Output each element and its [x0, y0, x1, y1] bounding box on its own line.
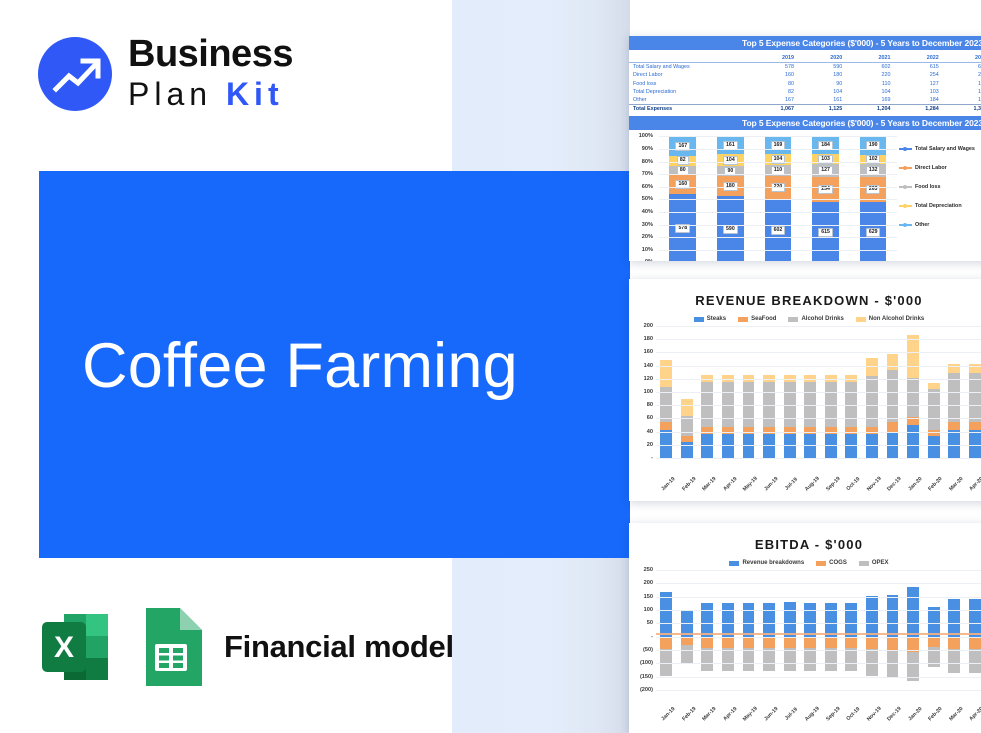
- x-axis-label: Sep-19: [824, 705, 843, 724]
- bar-segment: [866, 358, 878, 376]
- table-header-cell: 2022: [893, 54, 941, 63]
- table-cell-value: 263: [941, 71, 981, 79]
- legend-label: OPEX: [872, 560, 889, 566]
- legend-item: Revenue breakdowns: [729, 560, 804, 566]
- y-axis-tick: 20%: [642, 234, 653, 240]
- x-axis-label: Feb-19: [680, 705, 699, 724]
- chart-column: [944, 570, 965, 690]
- bar-segment: 102: [860, 155, 887, 165]
- y-axis-tick: 200: [644, 323, 653, 329]
- bar-segment: 578: [669, 194, 696, 261]
- legend-swatch-icon: [729, 561, 739, 566]
- brand-word-plan: Plan: [128, 76, 212, 112]
- bar-segment: [948, 422, 960, 430]
- bar-segment: [743, 603, 755, 637]
- table-cell-label: Other: [629, 96, 748, 105]
- microsoft-excel-icon: X: [38, 610, 112, 684]
- bar-segment: [743, 648, 755, 671]
- bar-value-label: 590: [723, 225, 738, 234]
- table-cell-value: 110: [844, 80, 892, 88]
- legend-item: Other: [899, 222, 981, 228]
- gridline: [659, 237, 897, 238]
- table-cell-value: 184: [893, 96, 941, 105]
- revenue-chart-y-axis: 20018016014012010080604020-: [629, 324, 655, 492]
- table-cell-label: Direct Labor: [629, 71, 748, 79]
- bar-segment: 160: [669, 175, 696, 194]
- x-axis-label: Aug-19: [803, 475, 822, 494]
- legend-swatch-icon: [899, 186, 912, 188]
- x-axis-label: May-19: [741, 475, 760, 494]
- expense-categories-card[interactable]: Top 5 Expense Categories ($'000) - 5 Yea…: [629, 36, 981, 261]
- table-row: Direct Labor160180220254263: [629, 71, 981, 79]
- brand-line-plan-kit: Plan Kit: [128, 75, 293, 113]
- table-header-cell: 2020: [796, 54, 844, 63]
- ebitda-chart-y-axis: 25020015010050-(50)(100)(150)(200): [629, 568, 655, 720]
- bar-segment: [722, 434, 734, 458]
- chart-column: [677, 570, 698, 690]
- bar-group[interactable]: [964, 570, 981, 690]
- bar-group[interactable]: [944, 570, 965, 690]
- legend-swatch-icon: [899, 224, 912, 226]
- gridline: [659, 136, 897, 137]
- gridline: [659, 162, 897, 163]
- stacked-bar[interactable]: [866, 358, 878, 458]
- bar-segment: [969, 637, 981, 649]
- bar-segment: [743, 637, 755, 648]
- y-axis-tick: (200): [640, 687, 653, 693]
- x-axis-label: Jan-19: [659, 705, 678, 724]
- bar-segment: [825, 648, 837, 671]
- x-axis-label: Dec-19: [885, 475, 904, 494]
- bar-group[interactable]: [841, 570, 862, 690]
- bar-segment: [907, 378, 919, 417]
- table-cell-value: 1,067: [748, 105, 796, 114]
- expense-table: 20192020202120222023Total Salary and Wag…: [629, 54, 981, 113]
- table-row: Other167161169184190: [629, 96, 981, 105]
- bar-segment: [969, 649, 981, 674]
- bar-segment: [969, 599, 981, 637]
- bar-segment: [784, 637, 796, 648]
- y-axis-tick: 20: [647, 442, 653, 448]
- chart-column: [697, 570, 718, 690]
- x-axis-label: Feb-20: [926, 475, 945, 494]
- bar-group[interactable]: [779, 570, 800, 690]
- bar-segment: [804, 427, 816, 434]
- chart-column: [882, 570, 903, 690]
- bar-segment: [825, 427, 837, 434]
- gridline: [656, 677, 981, 678]
- x-axis-label: Jan-20: [906, 705, 925, 724]
- bar-segment: 615: [812, 202, 839, 261]
- bar-group[interactable]: [821, 570, 842, 690]
- bar-segment: [784, 427, 796, 434]
- bar-segment: 169: [765, 136, 792, 154]
- bar-segment: [701, 637, 713, 648]
- ebitda-trend-line: [656, 633, 981, 635]
- bar-segment: [701, 648, 713, 671]
- revenue-chart-plot-area[interactable]: 20018016014012010080604020- Jan-19Feb-19…: [629, 324, 981, 492]
- bar-segment: [804, 434, 816, 458]
- bar-segment: [907, 425, 919, 458]
- gridline: [656, 650, 981, 651]
- stacked-bar[interactable]: [928, 383, 940, 458]
- gridline: [656, 405, 981, 406]
- table-cell-value: 602: [844, 63, 892, 72]
- legend-label: Revenue breakdowns: [742, 560, 804, 566]
- table-header-row: 20192020202120222023: [629, 54, 981, 63]
- expense-stacked-chart[interactable]: 100%90%80%70%60%50%40%30%20%10%0% 167828…: [629, 132, 981, 261]
- bar-segment: [866, 596, 878, 637]
- table-cell-value: 578: [748, 63, 796, 72]
- bar-group[interactable]: [677, 570, 698, 690]
- x-axis-label: Mar-19: [700, 705, 719, 724]
- legend-label: Other: [915, 222, 929, 228]
- legend-label: Direct Labor: [915, 165, 947, 171]
- format-badges: X Financial model: [38, 607, 454, 687]
- y-axis-tick: 60: [647, 415, 653, 421]
- y-axis-tick: 100: [644, 389, 653, 395]
- table-header-cell: [629, 54, 748, 63]
- legend-label: Food loss: [915, 184, 940, 190]
- expense-chart-y-axis: 100%90%80%70%60%50%40%30%20%10%0%: [629, 132, 655, 261]
- y-axis-tick: 40: [647, 429, 653, 435]
- bar-segment: [907, 335, 919, 378]
- x-axis-label: May-19: [741, 705, 760, 724]
- y-axis-tick: (50): [643, 647, 653, 653]
- gridline: [659, 250, 897, 251]
- bar-segment: [660, 637, 672, 650]
- x-axis-label: Mar-20: [947, 705, 966, 724]
- revenue-chart-x-labels: Jan-19Feb-19Mar-19Apr-19May-19Jun-19Jul-…: [656, 482, 981, 488]
- gridline: [659, 187, 897, 188]
- gridline: [656, 623, 981, 624]
- y-axis-tick: 160: [644, 349, 653, 355]
- bar-segment: 590: [717, 196, 744, 261]
- legend-swatch-icon: [694, 317, 704, 322]
- legend-item: Total Salary and Wages: [899, 146, 981, 152]
- bar-segment: [722, 603, 734, 637]
- bar-segment: [969, 422, 981, 430]
- table-header-cell: 2023: [941, 54, 981, 63]
- stacked-bar[interactable]: [907, 335, 919, 458]
- bar-segment: [660, 422, 672, 431]
- y-axis-tick: 0%: [645, 259, 653, 261]
- legend-item: OPEX: [859, 560, 889, 566]
- table-cell-value: 629: [941, 63, 981, 72]
- bar-group[interactable]: [903, 570, 924, 690]
- bar-segment: [825, 603, 837, 637]
- x-axis-label: Jun-19: [762, 475, 781, 494]
- bar-segment: [845, 637, 857, 648]
- bar-segment: [845, 427, 857, 434]
- y-axis-tick: 120: [644, 376, 653, 382]
- x-axis-label: Sep-19: [824, 475, 843, 494]
- table-cell-value: 615: [893, 63, 941, 72]
- bar-segment: [804, 603, 816, 637]
- table-cell-value: 169: [844, 96, 892, 105]
- brand-line-business: Business: [128, 33, 293, 75]
- legend-swatch-icon: [856, 317, 866, 322]
- legend-item: COGS: [816, 560, 847, 566]
- chart-column: [821, 570, 842, 690]
- legend-label: COGS: [829, 560, 847, 566]
- table-cell-value: 1,125: [796, 105, 844, 114]
- format-label: Financial model: [224, 629, 454, 665]
- bar-group[interactable]: [718, 570, 739, 690]
- table-cell-label: Total Salary and Wages: [629, 63, 748, 72]
- chart-column: [923, 570, 944, 690]
- y-axis-tick: 90%: [642, 146, 653, 152]
- bar-segment: [784, 648, 796, 671]
- bar-segment: [722, 637, 734, 648]
- y-axis-tick: 50: [647, 620, 653, 626]
- bar-segment: [660, 592, 672, 636]
- bar-segment: [887, 354, 899, 370]
- bar-segment: [722, 648, 734, 671]
- gridline: [656, 432, 981, 433]
- bar-segment: [928, 383, 940, 390]
- table-cell-value: 104: [844, 88, 892, 96]
- bar-segment: [866, 434, 878, 458]
- legend-item: SeaFood: [738, 316, 776, 322]
- x-axis-label: Jul-19: [782, 705, 801, 724]
- legend-item: Alcohol Drinks: [788, 316, 843, 322]
- bar-group[interactable]: [697, 570, 718, 690]
- bar-segment: 220: [765, 176, 792, 199]
- x-axis-label: Nov-19: [865, 475, 884, 494]
- bar-segment: 167: [669, 136, 696, 156]
- bar-value-label: 220: [771, 183, 786, 192]
- ebitda-chart-x-labels: Jan-19Feb-19Mar-19Apr-19May-19Jun-19Jul-…: [656, 712, 981, 718]
- table-cell-value: 161: [796, 96, 844, 105]
- bar-segment: [845, 434, 857, 458]
- bar-value-label: 602: [771, 226, 786, 235]
- legend-label: Total Salary and Wages: [915, 146, 975, 152]
- x-axis-label: Apr-20: [967, 475, 981, 494]
- legend-label: Steaks: [707, 316, 726, 322]
- gridline: [656, 637, 981, 638]
- svg-text:X: X: [54, 631, 74, 664]
- bar-group[interactable]: [923, 570, 944, 690]
- gridline: [659, 212, 897, 213]
- y-axis-tick: 180: [644, 336, 653, 342]
- gridline: [656, 339, 981, 340]
- x-axis-label: Feb-20: [926, 705, 945, 724]
- bar-segment: [928, 389, 940, 430]
- x-axis-label: Oct-19: [844, 705, 863, 724]
- y-axis-tick: 200: [644, 580, 653, 586]
- chart-column: [656, 570, 677, 690]
- x-axis-label: Mar-20: [947, 475, 966, 494]
- bar-group[interactable]: [882, 570, 903, 690]
- x-axis-label: Apr-20: [967, 705, 981, 724]
- bar-segment: [763, 427, 775, 434]
- bar-segment: [887, 422, 899, 431]
- chart-column: [718, 570, 739, 690]
- table-row: Total Salary and Wages578590602615629: [629, 63, 981, 72]
- y-axis-tick: 100%: [639, 133, 653, 139]
- chart-column: [903, 570, 924, 690]
- gridline: [656, 570, 981, 571]
- legend-item: Total Depreciation: [899, 203, 981, 209]
- chart-column: [779, 570, 800, 690]
- x-axis-label: Dec-19: [885, 705, 904, 724]
- gridline: [656, 583, 981, 584]
- bar-segment: 104: [765, 154, 792, 165]
- bar-value-label: 160: [675, 180, 690, 189]
- x-axis-label: Jan-19: [659, 475, 678, 494]
- chart-column: [738, 570, 759, 690]
- expense-table-banner: Top 5 Expense Categories ($'000) - 5 Yea…: [629, 36, 981, 50]
- gridline: [659, 199, 897, 200]
- bar-segment: [948, 649, 960, 674]
- bar-value-label: 104: [771, 155, 786, 164]
- legend-label: Alcohol Drinks: [801, 316, 843, 322]
- legend-label: SeaFood: [751, 316, 776, 322]
- gridline: [656, 610, 981, 611]
- x-axis-label: Jan-20: [906, 475, 925, 494]
- bar-segment: [866, 427, 878, 434]
- bar-segment: 254: [812, 177, 839, 202]
- bar-segment: [763, 603, 775, 637]
- table-cell-label: Total Depreciation: [629, 88, 748, 96]
- bar-segment: 263: [860, 177, 887, 202]
- bar-value-label: 102: [866, 155, 881, 164]
- expense-chart-legend: Total Salary and WagesDirect LaborFood l…: [899, 146, 981, 241]
- chart-column: [862, 570, 883, 690]
- bar-segment: [681, 399, 693, 416]
- table-cell-value: 80: [748, 80, 796, 88]
- revenue-chart-legend: SteaksSeaFoodAlcohol DrinksNon Alcohol D…: [629, 314, 981, 324]
- x-axis-label: Aug-19: [803, 705, 822, 724]
- legend-swatch-icon: [738, 317, 748, 322]
- legend-swatch-icon: [899, 148, 912, 150]
- y-axis-tick: 80: [647, 402, 653, 408]
- legend-swatch-icon: [816, 561, 826, 566]
- bar-segment: 103: [812, 154, 839, 164]
- table-cell-value: 132: [941, 80, 981, 88]
- brand-wordmark: Business Plan Kit: [128, 33, 293, 113]
- table-cell-value: 103: [893, 88, 941, 96]
- y-axis-tick: 10%: [642, 247, 653, 253]
- table-total-row: Total Expenses1,0671,1251,2041,2841,316: [629, 105, 981, 114]
- legend-swatch-icon: [859, 561, 869, 566]
- bar-segment: [887, 595, 899, 637]
- y-axis-tick: 150: [644, 594, 653, 600]
- bar-group[interactable]: [759, 570, 780, 690]
- bar-segment: [948, 373, 960, 422]
- x-axis-label: Jul-19: [782, 475, 801, 494]
- chart-column: [759, 570, 780, 690]
- table-cell-value: 180: [796, 71, 844, 79]
- brand-logo: Business Plan Kit: [36, 33, 326, 123]
- legend-item: Direct Labor: [899, 165, 981, 171]
- bar-segment: [969, 373, 981, 422]
- stacked-bar[interactable]: [660, 360, 672, 458]
- gridline: [659, 225, 897, 226]
- bar-segment: [722, 427, 734, 434]
- gridline: [656, 690, 981, 691]
- legend-label: Non Alcohol Drinks: [869, 316, 924, 322]
- table-cell-value: 104: [796, 88, 844, 96]
- gridline: [659, 174, 897, 175]
- revenue-chart-title: REVENUE BREAKDOWN - $'000: [629, 293, 981, 308]
- x-axis-label: Nov-19: [865, 705, 884, 724]
- bar-value-label: 615: [818, 228, 833, 237]
- gridline: [656, 326, 981, 327]
- gridline: [656, 597, 981, 598]
- legend-item: Food loss: [899, 184, 981, 190]
- bar-value-label: 629: [866, 228, 881, 237]
- y-axis-tick: (100): [640, 660, 653, 666]
- bar-segment: [763, 648, 775, 671]
- x-axis-label: Jun-19: [762, 705, 781, 724]
- gridline: [656, 663, 981, 664]
- bar-segment: [701, 603, 713, 637]
- gridline: [656, 458, 981, 459]
- bar-segment: [681, 645, 693, 663]
- bar-segment: [928, 436, 940, 458]
- chart-column: [964, 570, 981, 690]
- table-row: Total Depreciation82104104103102: [629, 88, 981, 96]
- y-axis-tick: 100: [644, 607, 653, 613]
- bar-segment: [907, 587, 919, 637]
- ebitda-card[interactable]: EBITDA - $'000 Revenue breakdownsCOGSOPE…: [629, 523, 981, 733]
- table-header-cell: 2019: [748, 54, 796, 63]
- table-cell-value: 90: [796, 80, 844, 88]
- gridline: [656, 352, 981, 353]
- bar-group[interactable]: [738, 570, 759, 690]
- legend-swatch-icon: [899, 167, 912, 169]
- bar-segment: 190: [860, 136, 887, 154]
- table-cell-value: 1,204: [844, 105, 892, 114]
- ebitda-chart-legend: Revenue breakdownsCOGSOPEX: [629, 558, 981, 568]
- bar-segment: [825, 434, 837, 458]
- legend-swatch-icon: [788, 317, 798, 322]
- table-cell-value: 1,284: [893, 105, 941, 114]
- ebitda-chart-plot-area[interactable]: 25020015010050-(50)(100)(150)(200) Jan-1…: [629, 568, 981, 720]
- bar-segment: [804, 648, 816, 671]
- y-axis-tick: 70%: [642, 171, 653, 177]
- gridline: [659, 149, 897, 150]
- bar-segment: [948, 599, 960, 637]
- y-axis-tick: 50%: [642, 196, 653, 202]
- table-cell-label: Food loss: [629, 80, 748, 88]
- bar-segment: [928, 637, 940, 647]
- bar-segment: [845, 648, 857, 671]
- bar-segment: [660, 360, 672, 387]
- bar-group[interactable]: [656, 570, 677, 690]
- y-axis-tick: 60%: [642, 184, 653, 190]
- gridline: [656, 392, 981, 393]
- bar-segment: [866, 637, 878, 650]
- bar-segment: [763, 434, 775, 458]
- bar-segment: [845, 603, 857, 637]
- expense-chart-banner: Top 5 Expense Categories ($'000) - 5 Yea…: [629, 116, 981, 130]
- table-cell-value: 590: [796, 63, 844, 72]
- bar-segment: [701, 427, 713, 434]
- stacked-bar[interactable]: [681, 399, 693, 458]
- table-cell-value: 102: [941, 88, 981, 96]
- bar-group[interactable]: [800, 570, 821, 690]
- bar-value-label: 103: [818, 155, 833, 164]
- bar-segment: [701, 434, 713, 458]
- table-cell-value: 160: [748, 71, 796, 79]
- bar-group[interactable]: [862, 570, 883, 690]
- gridline: [656, 366, 981, 367]
- table-row: Food loss8090110127132: [629, 80, 981, 88]
- revenue-breakdown-card[interactable]: REVENUE BREAKDOWN - $'000 SteaksSeaFoodA…: [629, 279, 981, 501]
